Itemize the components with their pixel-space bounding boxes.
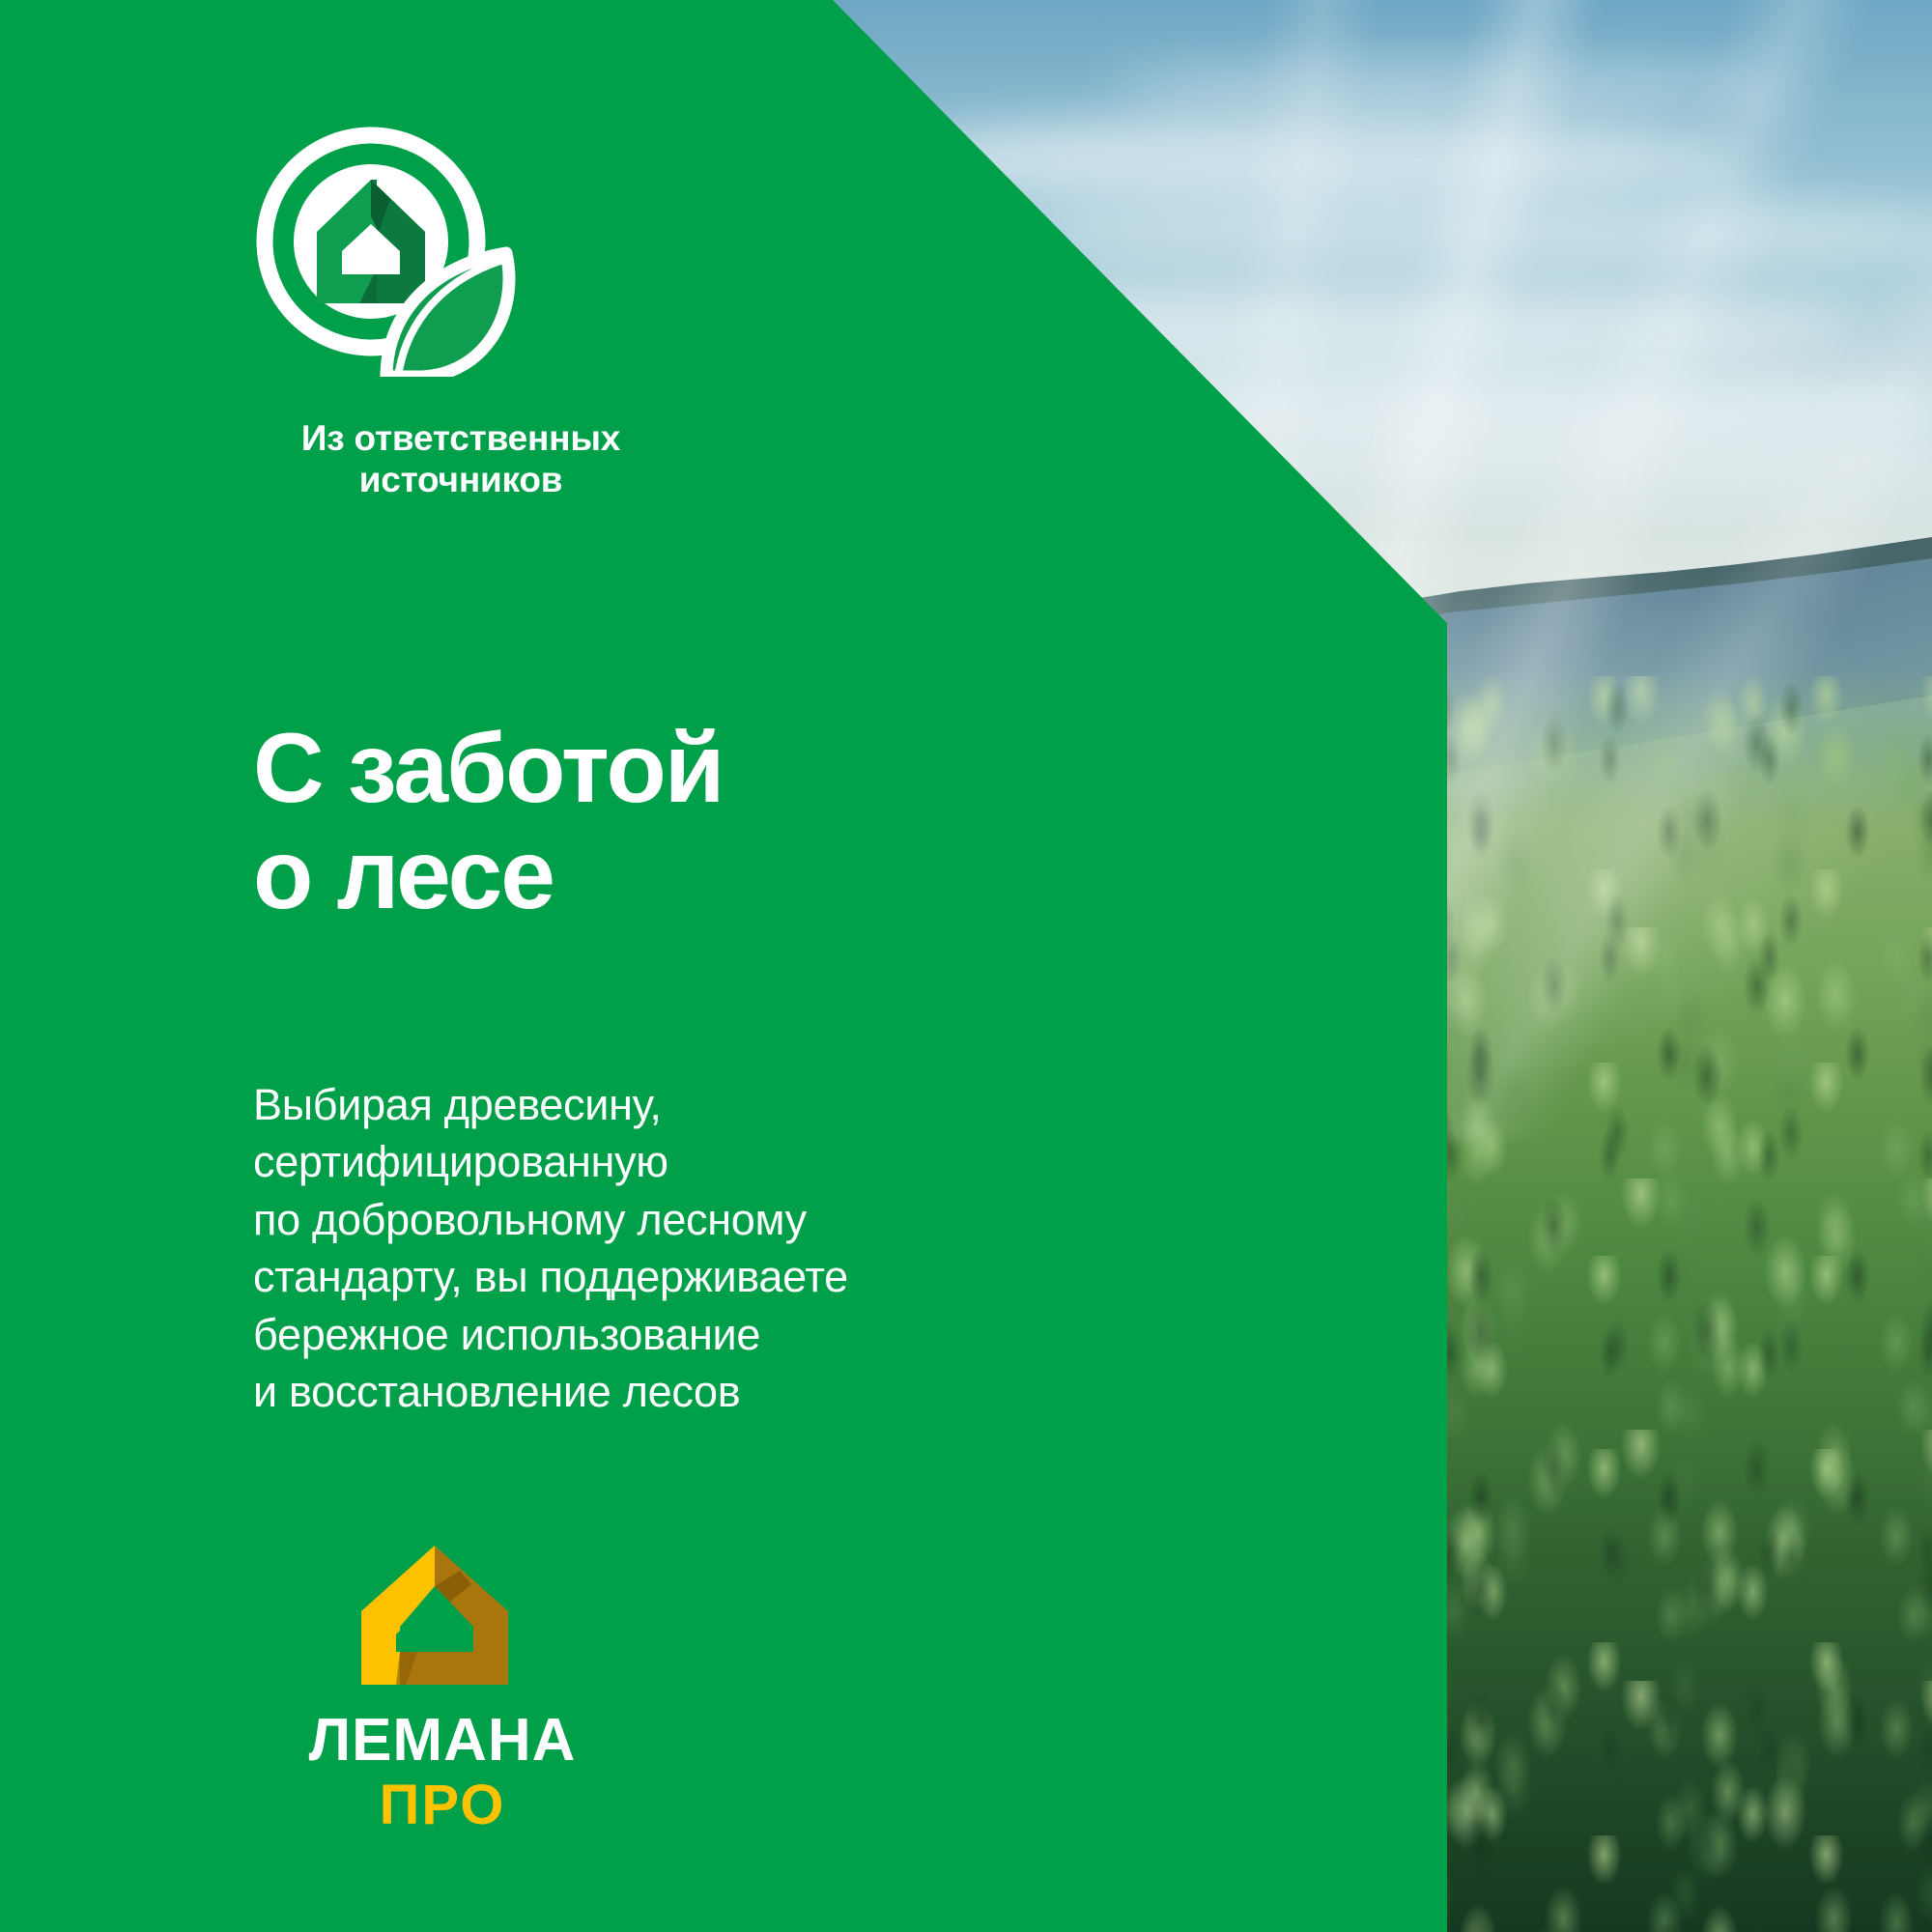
content-layer: Из ответственных источников С заботой о … [0, 0, 1932, 1932]
brand-logo: ЛЕМАНА ПРО [259, 1542, 626, 1835]
body-paragraph: Выбирая древесину, сертифицированную по … [253, 1076, 1026, 1420]
brand-suffix: ПРО [380, 1774, 506, 1835]
responsible-sources-badge-icon [253, 124, 543, 377]
page-title: С заботой о лесе [253, 715, 1045, 927]
poster: Из ответственных источников С заботой о … [0, 0, 1932, 1932]
brand-name: ЛЕМАНА [309, 1707, 577, 1774]
lemana-house-icon [357, 1542, 512, 1689]
badge-caption: Из ответственных источников [253, 417, 668, 501]
brand-wordmark: ЛЕМАНА ПРО [283, 1700, 602, 1835]
